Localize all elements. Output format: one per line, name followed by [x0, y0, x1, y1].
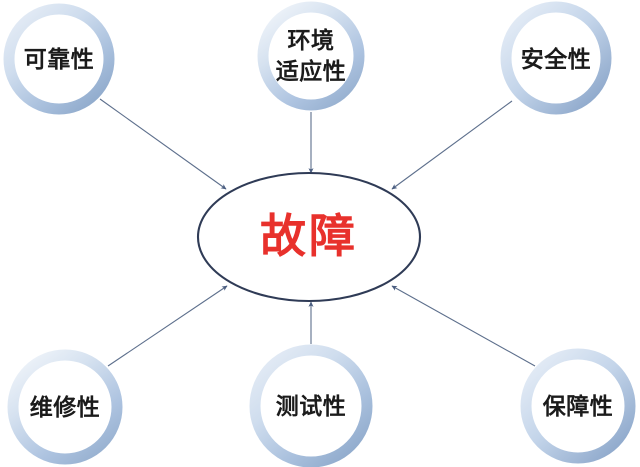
safety-label: 安全性 [521, 46, 592, 73]
testability-label: 测试性 [276, 393, 347, 420]
connector-supportability-to-center [392, 286, 535, 366]
node-supportability[interactable]: 保障性 [526, 354, 630, 458]
environmental-adaptability-label-line2: 适应性 [276, 58, 347, 85]
supportability-label: 保障性 [542, 393, 614, 420]
connector-safety-to-center [392, 101, 512, 189]
center-label: 故障 [260, 209, 358, 263]
diagram-canvas: 故障 可靠性 环境 适应性 安全性 维修性 测试性 [0, 0, 640, 467]
connector-reliability-to-center [100, 99, 226, 189]
radial-diagram: 故障 可靠性 环境 适应性 安全性 维修性 测试性 [0, 0, 640, 467]
node-environmental-adaptability[interactable]: 环境 适应性 [263, 7, 359, 105]
environmental-adaptability-label-line1: 环境 [288, 27, 335, 54]
connector-maintainability-to-center [108, 286, 227, 366]
node-testability[interactable]: 测试性 [255, 350, 367, 462]
node-center-fault[interactable]: 故障 [198, 173, 420, 301]
node-reliability[interactable]: 可靠性 [9, 9, 109, 109]
maintainability-label: 维修性 [30, 394, 101, 421]
node-safety[interactable]: 安全性 [506, 7, 606, 109]
environmental-adaptability-ring-shape [263, 7, 359, 105]
node-maintainability[interactable]: 维修性 [13, 355, 117, 459]
reliability-label: 可靠性 [24, 46, 95, 73]
